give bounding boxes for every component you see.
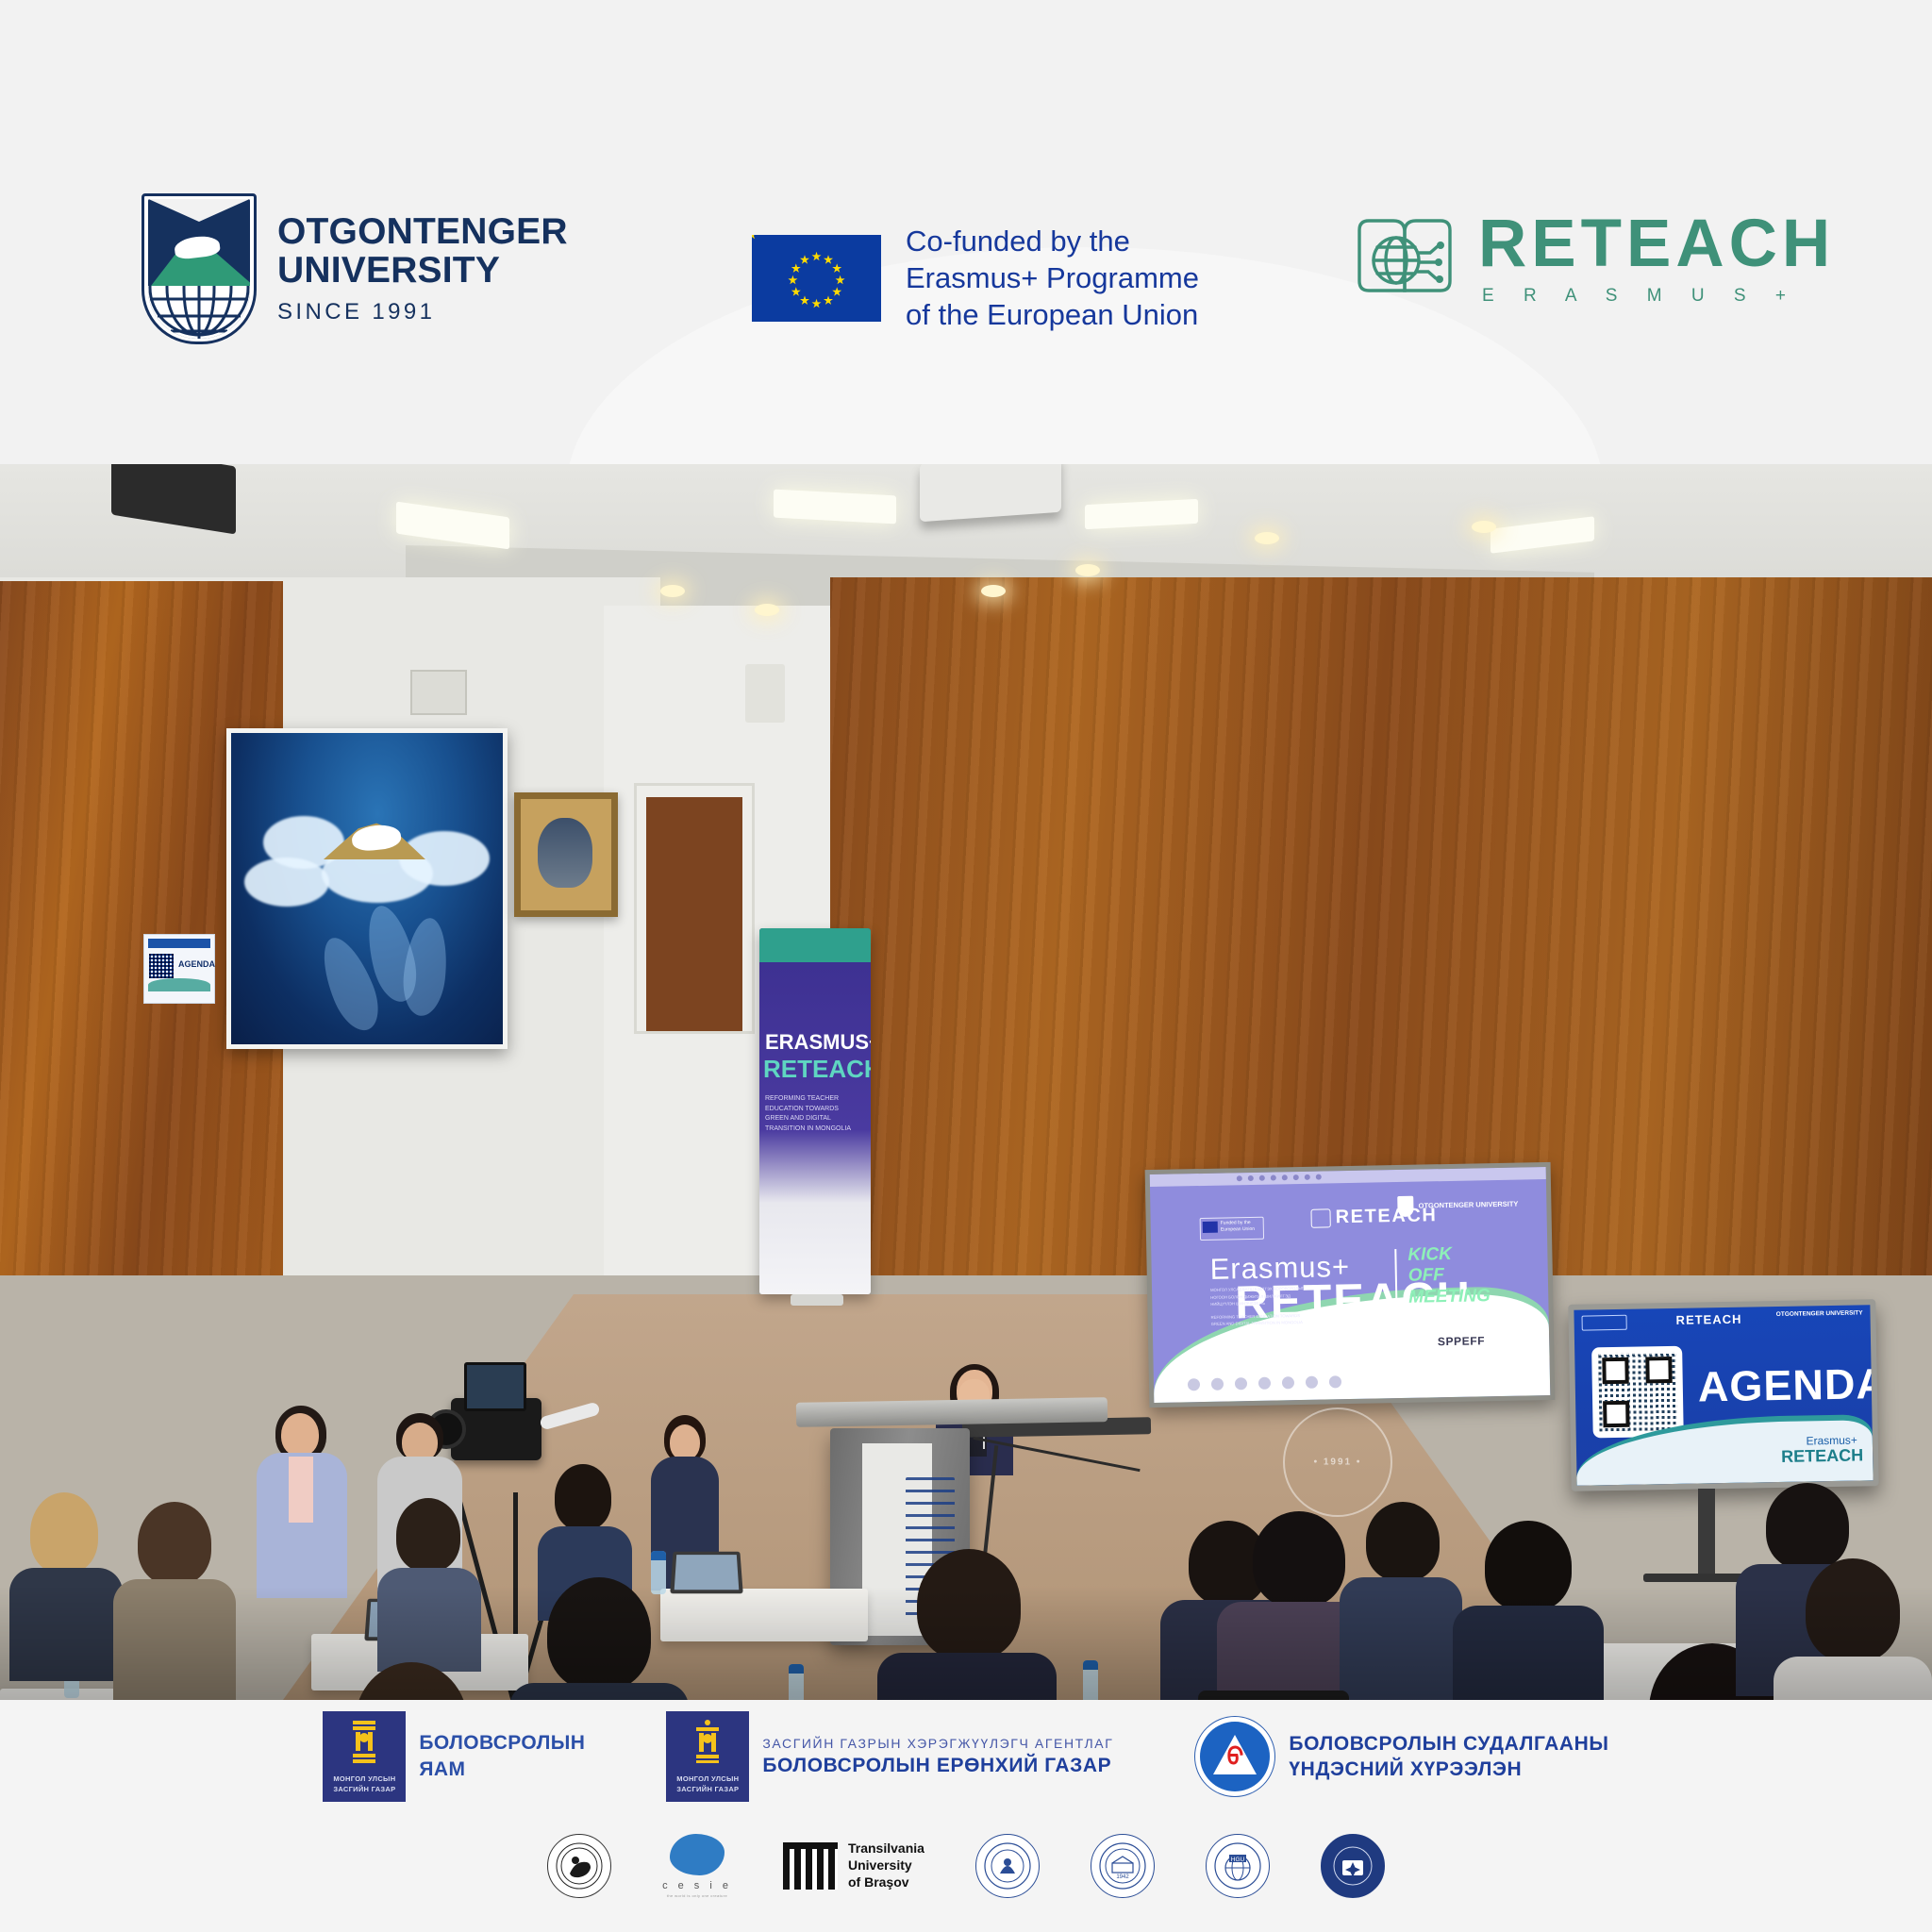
- svg-text:1942: 1942: [1116, 1874, 1129, 1880]
- qr-code-icon: [149, 954, 174, 978]
- monitor-stand: [1698, 1489, 1715, 1575]
- education-research-institute-logo: ᠪ БОЛОВСРОЛЫН СУДАЛГААНЫ ҮНДЭСНИЙ ХҮРЭЭЛ…: [1194, 1716, 1608, 1797]
- tv-reteach-label: RETEACH: [1675, 1312, 1741, 1327]
- footer-partner-bar: МОНГОЛ УЛСЫН ЗАСГИЙН ГАЗАР БОЛОВСРОЛЫН Я…: [0, 1700, 1932, 1932]
- mongolian-university-seal-1: [975, 1834, 1040, 1898]
- otgontenger-since: SINCE 1991: [277, 301, 568, 325]
- ac-unit: [745, 664, 785, 723]
- cesie-logo: c e s i e the world is only one creature: [662, 1834, 732, 1898]
- institute-seal-icon: ᠪ: [1194, 1716, 1275, 1797]
- downlight: [1075, 564, 1100, 576]
- rollup-line2: RETEACH: [763, 1055, 871, 1084]
- book-globe-circuit-icon: [1354, 209, 1456, 308]
- slide-eu-funding-badge: Funded by the European Union: [1200, 1217, 1264, 1241]
- tv-university-label: OTGONTENGER UNIVERSITY: [1776, 1309, 1863, 1319]
- otgontenger-line2: UNIVERSITY: [277, 252, 568, 291]
- rollup-stand: [791, 1294, 843, 1306]
- agency-emblem-caption-2: ЗАСГИЙН ГАЗАР: [676, 1785, 739, 1795]
- ministry-emblem-caption-1: МОНГОЛ УЛСЫН: [333, 1774, 395, 1785]
- eu-line1: Co-funded by the: [906, 224, 1199, 260]
- slide-university-logo: OTGONTENGER UNIVERSITY: [1397, 1194, 1518, 1217]
- mongolia-government-emblem-icon: МОНГОЛ УЛСЫН ЗАСГИЙН ГАЗАР: [666, 1711, 749, 1802]
- downlight: [981, 585, 1006, 597]
- door: [634, 783, 755, 1034]
- rollup-sub: REFORMING TEACHER EDUCATION TOWARDS GREE…: [765, 1094, 863, 1134]
- downlight: [1255, 532, 1279, 544]
- reteach-subtitle: E R A S M U S +: [1482, 286, 1835, 307]
- agency-emblem-caption-1: МОНГОЛ УЛСЫН: [676, 1774, 739, 1785]
- projection-screen: Funded by the European Union RETEACH OTG…: [1145, 1162, 1556, 1407]
- event-photograph: AGENDA ERASMUS+ RETEACH REFORMING TEACHE…: [0, 464, 1932, 1700]
- shield-mountain-globe-icon: [142, 193, 257, 344]
- camera-monitor: [464, 1362, 526, 1411]
- tv-brand-big: RETEACH: [1781, 1445, 1863, 1467]
- agenda-poster-label: AGENDA: [178, 959, 215, 969]
- tv-title: AGENDA: [1697, 1359, 1873, 1412]
- wall-vent: [410, 670, 467, 715]
- eu-line2: Erasmus+ Programme: [906, 260, 1199, 297]
- rollup-line1: ERASMUS+: [765, 1030, 871, 1055]
- cesie-label: c e s i e: [662, 1880, 732, 1891]
- standing-person: [257, 1409, 347, 1598]
- projected-slide: Funded by the European Union RETEACH OTG…: [1150, 1167, 1551, 1403]
- reteach-wordmark: RETEACH: [1478, 210, 1835, 277]
- transilvania-mark-icon: [783, 1842, 838, 1890]
- hgu-seal: HGU: [1206, 1834, 1270, 1898]
- poster-page: OTGONTENGER UNIVERSITY SINCE 1991: [0, 0, 1932, 1932]
- slide-partner-sppeff: SPPEFF: [1438, 1334, 1486, 1348]
- blue-mountain-painting: [226, 728, 508, 1049]
- framed-portrait: [514, 792, 618, 917]
- slide-university-label: OTGONTENGER UNIVERSITY: [1418, 1200, 1518, 1211]
- university-wall-seal: • 1991 •: [1283, 1407, 1392, 1517]
- otgontenger-line1: OTGONTENGER: [277, 213, 568, 252]
- ministry-emblem-caption-2: ЗАСГИЙН ГАЗАР: [333, 1785, 395, 1795]
- agency-main-line: БОЛОВСРОЛЫН ЕРӨНХИЙ ГАЗАР: [762, 1753, 1113, 1778]
- institute-name-2: ҮНДЭСНИЙ ХҮРЭЭЛЭН: [1289, 1757, 1608, 1782]
- slide-body-mn: МОНГОЛ УЛСАД БАГШ БЭЛТГЭХ БОЛОВСРОЛЫГ НО…: [1210, 1285, 1312, 1308]
- header-logo-bar: OTGONTENGER UNIVERSITY SINCE 1991: [0, 0, 1932, 464]
- wall-seal-text: • 1991 •: [1314, 1457, 1362, 1468]
- government-logos-row: МОНГОЛ УЛСЫН ЗАСГИЙН ГАЗАР БОЛОВСРОЛЫН Я…: [0, 1711, 1932, 1802]
- slide-body-en: REFORMING TEACHER EDUCATION TOWARDS GREE…: [1211, 1312, 1313, 1328]
- reteach-logo: RETEACH E R A S M U S +: [1354, 209, 1835, 308]
- ministry-name-2: ЯАМ: [419, 1757, 585, 1783]
- tv-eu-badge: [1582, 1315, 1627, 1331]
- mongolian-university-seal-1942: 1942: [1091, 1834, 1155, 1898]
- agenda-wall-poster: AGENDA: [143, 934, 215, 1004]
- mongolian-university-seal-compass: [1321, 1834, 1385, 1898]
- eu-cofunding-logo: Co-funded by the Erasmus+ Programme of t…: [752, 224, 1199, 333]
- otgontenger-university-logo: OTGONTENGER UNIVERSITY SINCE 1991: [142, 193, 568, 344]
- agenda-monitor: RETEACH OTGONTENGER UNIVERSITY AGENDA Er…: [1568, 1299, 1878, 1491]
- eu-flag-icon: [752, 235, 881, 322]
- education-general-agency-logo: МОНГОЛ УЛСЫН ЗАСГИЙН ГАЗАР ЗАСГИЙН ГАЗРЫ…: [666, 1711, 1113, 1802]
- ministry-name-1: БОЛОВСРОЛЫН: [419, 1730, 585, 1757]
- slide-kicker-1: KICK: [1407, 1243, 1490, 1266]
- partner-seals-row: c e s i e the world is only one creature…: [0, 1834, 1932, 1898]
- cesie-sub: the world is only one creature: [667, 1893, 727, 1898]
- projector: [920, 464, 1061, 522]
- slide-eu-note: Funded by the European Union: [1221, 1220, 1262, 1233]
- agency-top-line: ЗАСГИЙН ГАЗРЫН ХЭРЭГЖҮҮЛЭГЧ АГЕНТЛАГ: [762, 1735, 1113, 1754]
- ministry-of-education-logo: МОНГОЛ УЛСЫН ЗАСГИЙН ГАЗАР БОЛОВСРОЛЫН Я…: [323, 1711, 585, 1802]
- downlight: [755, 604, 779, 616]
- institute-name-1: БОЛОВСРОЛЫН СУДАЛГААНЫ: [1289, 1731, 1608, 1757]
- university-of-palermo-seal: [547, 1834, 611, 1898]
- slide-kicker-3: MEETING: [1408, 1286, 1491, 1308]
- cesie-mark-icon: [670, 1834, 724, 1875]
- downlight: [1472, 521, 1496, 533]
- slide-kicker-2: OFF: [1408, 1265, 1491, 1288]
- svg-text:HGU: HGU: [1231, 1857, 1245, 1863]
- transilvania-university-logo: TransilvaniaUniversityof Braşov: [783, 1840, 924, 1891]
- downlight: [660, 585, 685, 597]
- eu-line3: of the European Union: [906, 297, 1199, 334]
- photo-vignette: [0, 1587, 1932, 1700]
- qr-code-icon: [1591, 1346, 1684, 1439]
- rollup-banner: ERASMUS+ RETEACH REFORMING TEACHER EDUCA…: [759, 928, 871, 1294]
- mongolia-government-emblem-icon: МОНГОЛ УЛСЫН ЗАСГИЙН ГАЗАР: [323, 1711, 406, 1802]
